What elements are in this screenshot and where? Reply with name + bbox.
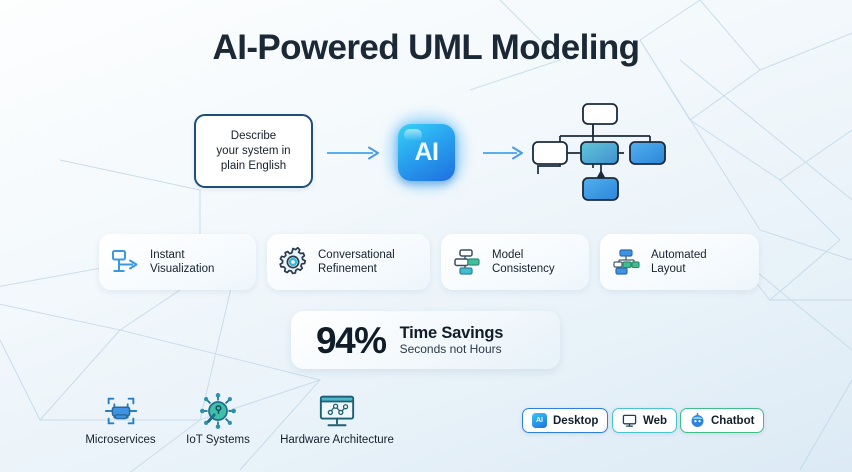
ai-badge-label: AI bbox=[415, 138, 439, 167]
bubble-line-3: plain English bbox=[221, 160, 286, 172]
uml-diagram-icon bbox=[520, 96, 685, 208]
feature-label-line2: Layout bbox=[651, 263, 686, 275]
feature-label-line1: Conversational bbox=[318, 249, 395, 261]
feature-card-conversational-refinement[interactable]: Conversational Refinement bbox=[267, 234, 430, 290]
use-case-iot-systems: IoT Systems bbox=[178, 391, 258, 446]
feature-card-list: Instant Visualization Conversational Ref… bbox=[99, 234, 759, 290]
stat-card-time-savings: 94% Time Savings Seconds not Hours bbox=[291, 311, 560, 369]
platform-label: Desktop bbox=[553, 415, 598, 427]
platform-pill-chatbot[interactable]: Chatbot bbox=[680, 408, 764, 433]
platform-label: Web bbox=[643, 415, 667, 427]
gear-icon bbox=[278, 247, 308, 277]
model-consistency-icon bbox=[452, 247, 482, 277]
use-case-label: Microservices bbox=[78, 434, 163, 446]
automated-layout-icon bbox=[611, 247, 641, 277]
feature-label-line2: Visualization bbox=[150, 263, 214, 275]
platform-label: Chatbot bbox=[711, 415, 754, 427]
monitor-icon bbox=[622, 413, 637, 428]
feature-card-model-consistency[interactable]: Model Consistency bbox=[441, 234, 589, 290]
chatbot-icon bbox=[690, 413, 705, 428]
page-title: AI-Powered UML Modeling bbox=[0, 28, 852, 68]
ai-mini-icon: AI bbox=[532, 413, 547, 428]
hardware-architecture-icon bbox=[272, 391, 402, 431]
platform-pill-web[interactable]: Web bbox=[612, 408, 677, 433]
feature-label-line1: Model bbox=[492, 249, 523, 261]
feature-label-line1: Instant bbox=[150, 249, 185, 261]
bubble-line-1: Describe bbox=[231, 130, 276, 142]
bubble-line-2: your system in bbox=[216, 145, 290, 157]
feature-card-instant-visualization[interactable]: Instant Visualization bbox=[99, 234, 256, 290]
feature-card-automated-layout[interactable]: Automated Layout bbox=[600, 234, 759, 290]
ai-tile-icon: AI bbox=[398, 124, 455, 181]
feature-label-line2: Refinement bbox=[318, 263, 377, 275]
use-case-hardware-architecture: Hardware Architecture bbox=[272, 391, 402, 446]
use-case-label: Hardware Architecture bbox=[272, 434, 402, 446]
instant-visualization-icon bbox=[110, 247, 140, 277]
stat-value: 94% bbox=[316, 322, 386, 359]
feature-label-line2: Consistency bbox=[492, 263, 555, 275]
iot-systems-icon bbox=[178, 391, 258, 431]
arrow-right-icon bbox=[325, 144, 385, 162]
feature-label-line1: Automated bbox=[651, 249, 707, 261]
prompt-speech-bubble: Describe your system in plain English bbox=[194, 114, 313, 188]
stat-subtext: Seconds not Hours bbox=[400, 342, 504, 357]
use-case-microservices: Microservices bbox=[78, 391, 163, 446]
platform-pill-desktop[interactable]: AI Desktop bbox=[522, 408, 608, 433]
microservices-icon bbox=[78, 391, 163, 431]
stat-headline: Time Savings bbox=[400, 324, 504, 342]
use-case-label: IoT Systems bbox=[178, 434, 258, 446]
